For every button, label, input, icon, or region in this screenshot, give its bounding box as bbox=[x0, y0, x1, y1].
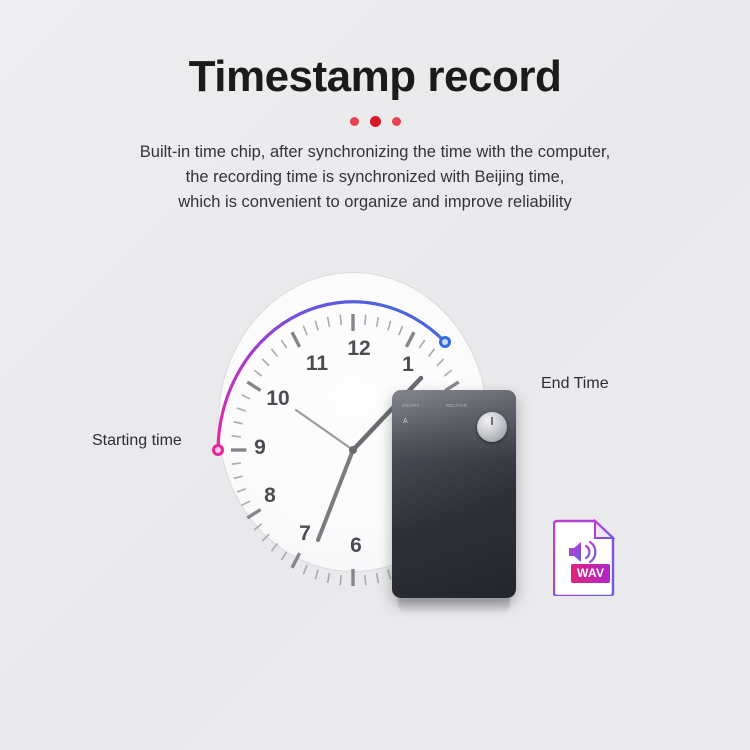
voice-recorder-device: ON/OFF REC/VOR A bbox=[392, 390, 516, 612]
device-label-on-off: ON/OFF bbox=[402, 403, 420, 408]
dot-left bbox=[350, 117, 359, 126]
device-reflection bbox=[398, 598, 510, 614]
subtitle-line-1: Built-in time chip, after synchronizing … bbox=[0, 140, 750, 165]
second-hand bbox=[296, 410, 353, 450]
device-brand: A bbox=[403, 418, 408, 425]
illustration-stage: 12 1 2 6 7 8 9 10 11 ON/OFF REC/VOR A bbox=[0, 240, 750, 660]
poster-root: Timestamp record Built-in time chip, aft… bbox=[0, 0, 750, 750]
wav-badge: WAV bbox=[571, 564, 610, 583]
device-body: ON/OFF REC/VOR A bbox=[392, 390, 516, 598]
device-dial-knob[interactable] bbox=[477, 412, 507, 442]
dot-right bbox=[392, 117, 401, 126]
subtitle-line-3: which is convenient to organize and impr… bbox=[0, 190, 750, 215]
clock-center bbox=[349, 446, 357, 454]
dot-middle bbox=[370, 116, 381, 127]
minute-hand bbox=[318, 450, 353, 540]
subtitle-line-2: the recording time is synchronized with … bbox=[0, 165, 750, 190]
starting-time-label: Starting time bbox=[92, 432, 182, 450]
dot-indicator-group bbox=[0, 116, 750, 127]
end-time-label: End Time bbox=[541, 375, 609, 393]
wav-file-icon: WAV bbox=[553, 518, 617, 596]
device-label-rec-vor: REC/VOR bbox=[446, 403, 467, 408]
page-title: Timestamp record bbox=[0, 52, 750, 102]
subtitle: Built-in time chip, after synchronizing … bbox=[0, 140, 750, 215]
